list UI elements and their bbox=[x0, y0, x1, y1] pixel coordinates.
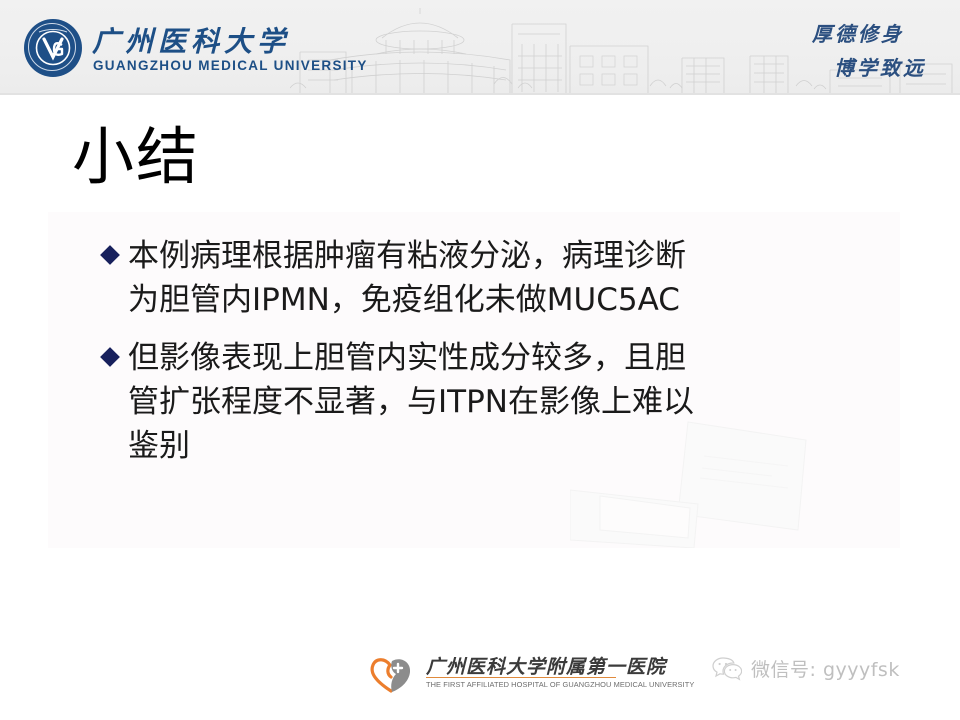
seal-monogram bbox=[24, 19, 82, 77]
list-item: 本例病理根据肿瘤有粘液分泌，病理诊断 为胆管内IPMN，免疫组化未做MUC5AC bbox=[103, 234, 863, 322]
wechat-account: 微信号: gyyyfsk bbox=[712, 655, 900, 682]
bullet-text: 本例病理根据肿瘤有粘液分泌，病理诊断 为胆管内IPMN，免疫组化未做MUC5AC bbox=[128, 234, 863, 322]
wechat-bubbles-icon bbox=[712, 656, 742, 682]
motto-line-2: 博学致远 bbox=[812, 52, 926, 81]
hospital-logo: 广州医科大学附属第一医院 THE FIRST AFFILIATED HOSPIT… bbox=[368, 650, 628, 698]
diamond-bullet-icon bbox=[100, 347, 120, 367]
list-item: 但影像表现上胆管内实性成分较多，且胆 管扩张程度不显著，与ITPN在影像上难以 … bbox=[103, 336, 863, 468]
header-divider bbox=[0, 93, 960, 95]
hospital-name-divider bbox=[426, 677, 616, 678]
motto-line-1: 厚德修身 bbox=[812, 18, 904, 47]
diamond-bullet-icon bbox=[100, 245, 120, 265]
university-motto: 厚德修身 博学致远 bbox=[812, 18, 904, 81]
bullet-text: 但影像表现上胆管内实性成分较多，且胆 管扩张程度不显著，与ITPN在影像上难以 … bbox=[128, 336, 863, 468]
university-seal-icon bbox=[24, 19, 82, 77]
page-title: 小结 bbox=[72, 126, 200, 188]
summary-bullet-list: 本例病理根据肿瘤有粘液分泌，病理诊断 为胆管内IPMN，免疫组化未做MUC5AC… bbox=[103, 234, 863, 468]
university-name-cn: 广州医科大学 bbox=[92, 20, 290, 60]
university-name-en: GUANGZHOU MEDICAL UNIVERSITY bbox=[93, 58, 368, 73]
hospital-heart-logo-icon bbox=[368, 652, 414, 694]
hospital-name-en: THE FIRST AFFILIATED HOSPITAL OF GUANGZH… bbox=[426, 680, 694, 689]
wechat-label: 微信号: gyyyfsk bbox=[751, 655, 900, 682]
page-header-banner: 广州医科大学 GUANGZHOU MEDICAL UNIVERSITY 厚德修身… bbox=[0, 0, 960, 95]
slide-content-panel: 本例病理根据肿瘤有粘液分泌，病理诊断 为胆管内IPMN，免疫组化未做MUC5AC… bbox=[48, 212, 900, 548]
hospital-name-cn: 广州医科大学附属第一医院 bbox=[426, 652, 666, 679]
